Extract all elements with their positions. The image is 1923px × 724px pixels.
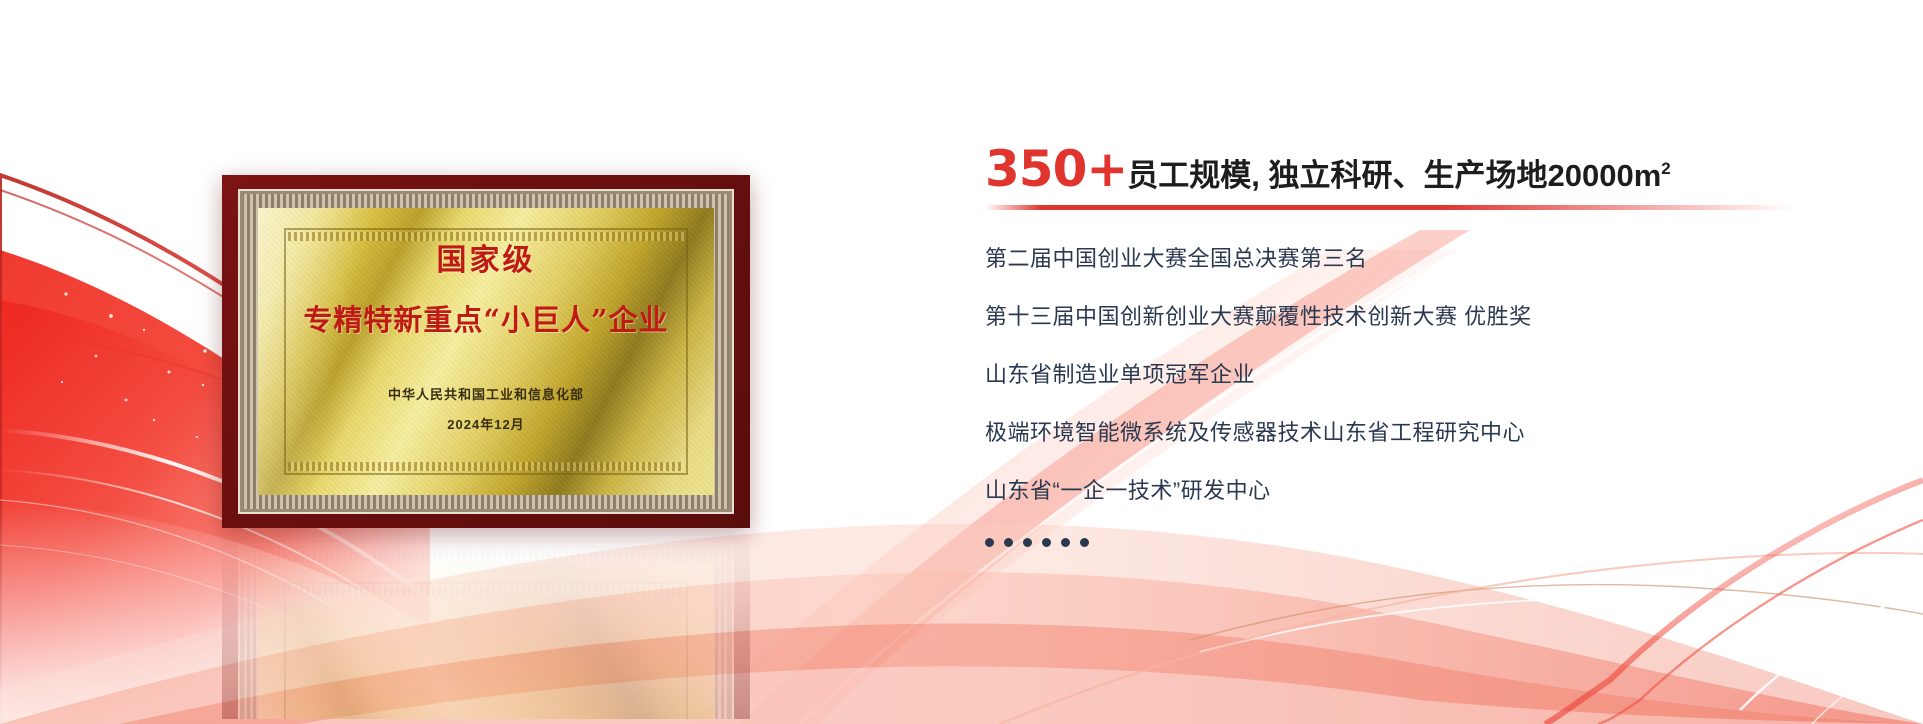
dot-icon [1061,538,1070,547]
plaque-award-title: 专精特新重点“小巨人”企业 [303,297,668,339]
plaque-level-label: 国家级 [437,235,536,279]
list-item: 第十三届中国创新创业大赛颠覆性技术创新大赛 优胜奖 [985,306,1865,328]
ellipsis-dots [985,538,1865,547]
dot-icon [1023,538,1032,547]
list-item: 极端环境智能微系统及传感器技术山东省工程研究中心 [985,422,1865,444]
headline: 350+ 员工规模, 独立科研、生产场地20000m 2 [985,140,1865,198]
plaque-issuer: 中华人民共和国工业和信息化部 [388,384,584,403]
plaque-date: 2024年12月 [447,414,524,433]
headline-text: 员工规模, 独立科研、生产场地20000m [1127,150,1661,195]
plaque-text-block: 国家级 专精特新重点“小巨人”企业 中华人民共和国工业和信息化部 2024年12… [222,175,750,528]
headline-number: 350+ [985,140,1127,198]
banner-stage: 国家级 专精特新重点“小巨人”企业 中华人民共和国工业和信息化部 2024年12… [0,0,1923,724]
content-column: 350+ 员工规模, 独立科研、生产场地20000m 2 第二届中国创业大赛全国… [985,140,1865,547]
honors-list: 第二届中国创业大赛全国总决赛第三名 第十三届中国创新创业大赛颠覆性技术创新大赛 … [985,248,1865,547]
headline-superscript: 2 [1661,159,1670,179]
list-item: 山东省制造业单项冠军企业 [985,364,1865,386]
award-plaque: 国家级 专精特新重点“小巨人”企业 中华人民共和国工业和信息化部 2024年12… [222,175,750,528]
list-item: 第二届中国创业大赛全国总决赛第三名 [985,248,1865,270]
dot-icon [985,538,994,547]
list-item: 山东省“一企一技术”研发中心 [985,480,1865,502]
plaque-frame: 国家级 专精特新重点“小巨人”企业 中华人民共和国工业和信息化部 2024年12… [222,175,750,528]
dot-icon [1080,538,1089,547]
dot-icon [1004,538,1013,547]
headline-underline [985,205,1795,210]
dot-icon [1042,538,1051,547]
